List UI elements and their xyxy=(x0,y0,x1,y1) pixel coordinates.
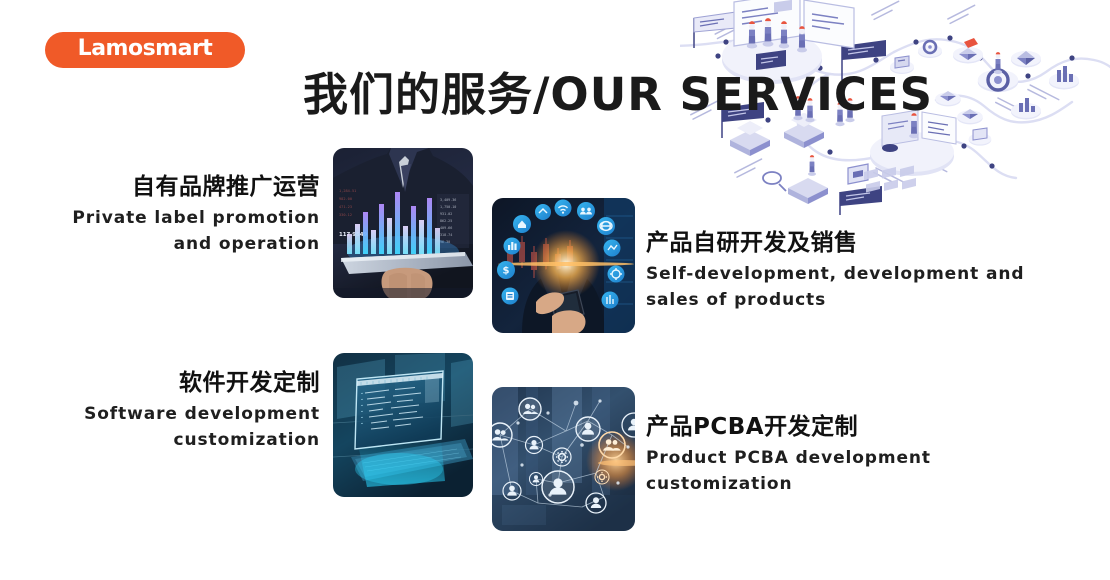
svg-text:1,284.51: 1,284.51 xyxy=(339,189,356,193)
service-item-4-title-en: Product PCBA development customization xyxy=(646,446,986,497)
service-item-1-title-en: Private label promotion and operation xyxy=(40,206,320,257)
brand-logo[interactable]: Lamosmart xyxy=(45,32,245,68)
service-item-1-text: 自有品牌推广运营 Private label promotion and ope… xyxy=(40,172,320,257)
service-item-1-title-cn: 自有品牌推广运营 xyxy=(40,172,320,203)
service-item-2-title-cn: 产品自研开发及销售 xyxy=(646,228,1046,259)
service-item-2-image: $ xyxy=(492,198,635,333)
page-title: 我们的服务/OUR SERVICES xyxy=(303,70,933,120)
svg-text:330.12: 330.12 xyxy=(339,213,352,217)
svg-text:318.74: 318.74 xyxy=(440,233,452,237)
service-item-1-image: 1,284.51982.00 471.23330.12 3,409.361,75… xyxy=(333,148,473,298)
service-item-4-image xyxy=(492,387,635,531)
brand-logo-text: Lamosmart xyxy=(78,38,213,60)
service-item-3-text: 软件开发定制 Software development customizatio… xyxy=(40,368,320,453)
service-item-2-title-en: Self-development, development and sales … xyxy=(646,262,1046,313)
service-item-3-title-cn: 软件开发定制 xyxy=(40,368,320,399)
svg-text:409.66: 409.66 xyxy=(440,226,452,230)
svg-text:1,750.10: 1,750.10 xyxy=(440,205,456,209)
service-item-4-title-cn: 产品PCBA开发定制 xyxy=(646,412,986,443)
service-item-4-text: 产品PCBA开发定制 Product PCBA development cust… xyxy=(646,412,986,497)
service-item-3-title-en: Software development customization xyxy=(40,402,320,453)
service-item-3-image xyxy=(333,353,473,497)
svg-text:931.02: 931.02 xyxy=(440,212,452,216)
svg-text:862.25: 862.25 xyxy=(440,219,452,223)
svg-text:982.00: 982.00 xyxy=(339,197,352,201)
service-item-2-text: 产品自研开发及销售 Self-development, development … xyxy=(646,228,1046,313)
svg-text:3,409.36: 3,409.36 xyxy=(440,198,456,202)
svg-text:$: $ xyxy=(503,266,510,277)
svg-text:471.23: 471.23 xyxy=(339,205,352,209)
